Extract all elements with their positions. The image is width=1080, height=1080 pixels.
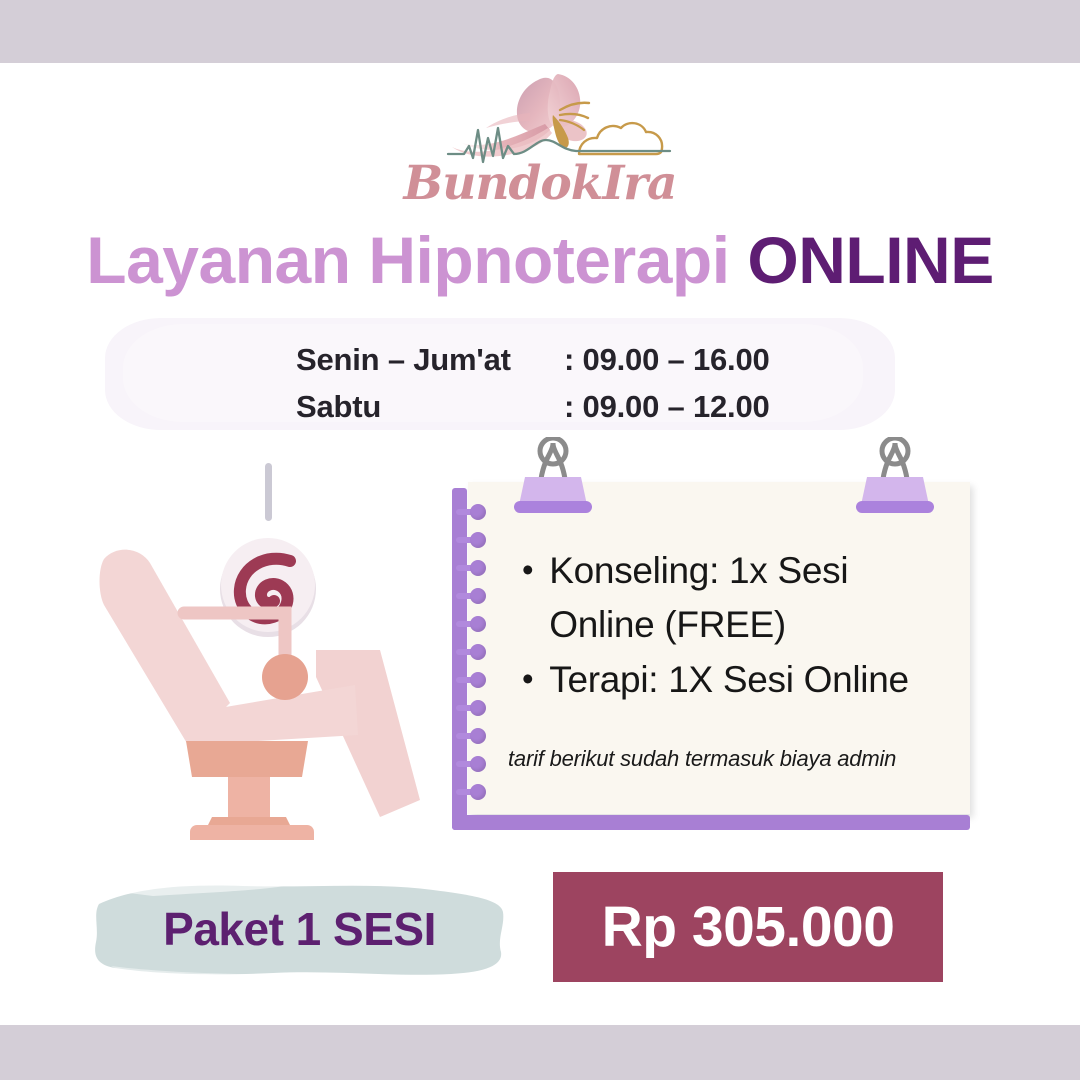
chair-foot-base [190,825,314,840]
notepad-bottom-edge [452,815,970,830]
headline-soft: Layanan Hipnoterapi [86,223,747,297]
chair-base-plate [186,741,308,777]
binder-clip-icon [847,437,943,515]
list-item: • Konseling: 1x Sesi Online (FREE) [522,544,942,651]
schedule-row: Senin – Jum'at : 09.00 – 16.00 [296,342,856,389]
pendulum-string [265,463,272,521]
bullet-icon: • [522,653,533,704]
schedule-time: : 09.00 – 12.00 [564,389,770,425]
notepad-ring [456,672,490,687]
brand-wordmark: BundokIra [390,156,690,211]
notepad-footnote: tarif berikut sudah termasuk biaya admin [508,746,896,772]
schedule-day: Senin – Jum'at [296,342,564,378]
price-badge: Rp 305.000 [553,872,943,982]
notepad-ring [456,532,490,547]
headline-strong: ONLINE [747,223,993,297]
package-label: Paket 1 SESI [93,878,506,980]
poster-canvas: BundokIra Layanan Hipnoterapi ONLINE Sen… [0,0,1080,1080]
notepad-ring [456,700,490,715]
bullet-icon: • [522,544,533,595]
cloud-icon [579,123,662,154]
list-item: • Terapi: 1X Sesi Online [522,653,942,707]
notepad-bullet-list: • Konseling: 1x Sesi Online (FREE) • Ter… [522,544,942,709]
schedule-block: Senin – Jum'at : 09.00 – 16.00 Sabtu : 0… [296,342,856,436]
page-title: Layanan Hipnoterapi ONLINE [0,222,1080,298]
brand-logo: BundokIra [390,58,690,223]
notepad-ring [456,616,490,631]
top-frame-band [0,0,1080,63]
schedule-row: Sabtu : 09.00 – 12.00 [296,389,856,436]
list-item-label: Terapi: 1X Sesi Online [549,653,908,707]
notepad-ring [456,784,490,799]
chair-knob [262,654,308,700]
notepad-ring [456,728,490,743]
notepad-ring [456,644,490,659]
bottom-frame-band [0,1025,1080,1080]
price-value: Rp 305.000 [602,894,895,960]
schedule-day: Sabtu [296,389,564,425]
chair-backrest [100,550,231,745]
notepad-card: • Konseling: 1x Sesi Online (FREE) • Ter… [452,482,970,830]
logo-mark [390,58,690,168]
list-item-label: Konseling: 1x Sesi Online (FREE) [549,544,942,651]
notepad-ring [456,588,490,603]
butterfly-icon [452,74,589,157]
schedule-time: : 09.00 – 16.00 [564,342,770,378]
hypnotherapy-chair-illustration [80,445,450,840]
notepad-ring [456,756,490,771]
notepad-ring [456,504,490,519]
binder-clip-icon [505,437,601,515]
notepad-ring [456,560,490,575]
